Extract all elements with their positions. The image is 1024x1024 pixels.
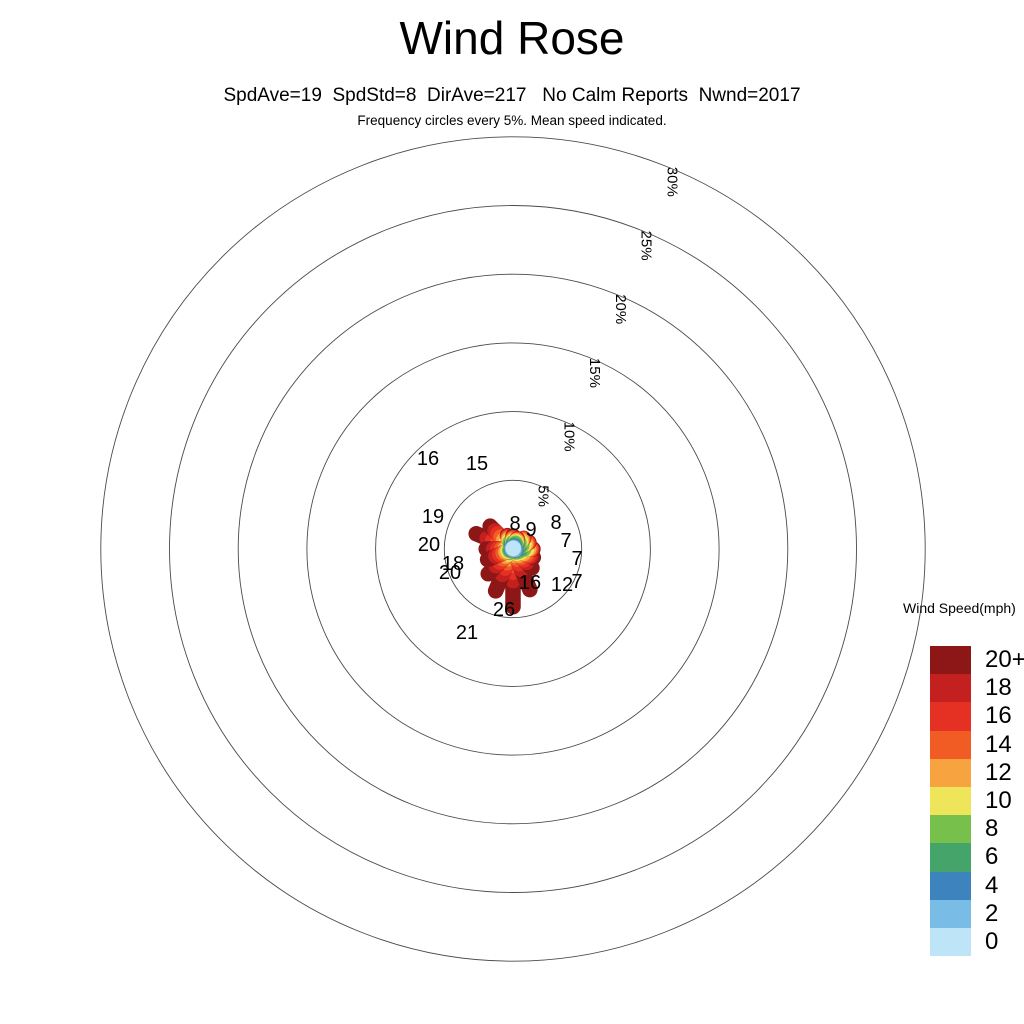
legend-label: 20+ [985,646,1024,674]
ring-label: 20% [612,294,629,324]
mean-speed-label: 9 [525,519,536,541]
legend-row: 2 [930,900,1024,928]
legend-swatch [930,759,971,787]
legend-row: 10 [930,787,1024,815]
legend-label: 10 [985,787,1012,815]
legend-row: 6 [930,843,1024,871]
legend-label: 16 [985,702,1012,730]
legend-row: 14 [930,731,1024,759]
legend-row: 12 [930,759,1024,787]
legend-swatch [930,843,971,871]
mean-speed-label: 16 [519,572,541,594]
ring-labels: 5%10%15%20%25%30% [535,167,681,507]
legend-row: 8 [930,815,1024,843]
legend-swatch [930,900,971,928]
legend-label: 12 [985,759,1012,787]
legend-swatch [930,674,971,702]
wind-rose-plot: 5%10%15%20%25%30% 8987771216262120182019… [0,0,1024,1024]
legend-swatch [930,787,971,815]
mean-speed-label: 12 [551,574,573,596]
wind-petal [513,539,517,549]
mean-speed-label: 21 [456,622,478,644]
legend-swatch [930,815,971,843]
legend-row: 4 [930,872,1024,900]
ring-label: 10% [560,422,577,452]
wind-rose-page: Wind Rose SpdAve=19 SpdStd=8 DirAve=217 … [0,0,1024,1024]
legend-label: 2 [985,900,998,928]
ring-label: 25% [638,231,655,261]
legend-row: 20+ [930,646,1024,674]
mean-speed-label: 8 [509,513,520,535]
legend-label: 14 [985,731,1012,759]
legend-label: 6 [985,843,998,871]
mean-speed-label: 19 [422,506,444,528]
legend-label: 0 [985,928,998,956]
mean-speed-label: 20 [418,534,440,556]
legend-label: 4 [985,872,998,900]
legend-label: 18 [985,674,1012,702]
ring-label: 5% [535,485,552,507]
legend-row: 0 [930,928,1024,956]
legend-label: 8 [985,815,998,843]
legend-row: 16 [930,702,1024,730]
mean-speed-label: 15 [466,453,488,475]
legend-row: 18 [930,674,1024,702]
mean-speed-label: 7 [571,548,582,570]
ring-label: 30% [663,167,680,197]
legend-title: Wind Speed(mph) [903,600,1016,616]
mean-speed-label: 18 [442,553,464,575]
legend: 20+181614121086420 [930,646,1024,956]
mean-speed-label: 16 [417,448,439,470]
ring-label: 15% [586,358,603,388]
mean-speed-label: 7 [560,530,571,552]
legend-swatch [930,702,971,730]
mean-speed-label: 26 [493,599,515,621]
legend-swatch [930,872,971,900]
legend-swatch [930,928,971,956]
legend-swatch [930,646,971,674]
legend-swatch [930,731,971,759]
